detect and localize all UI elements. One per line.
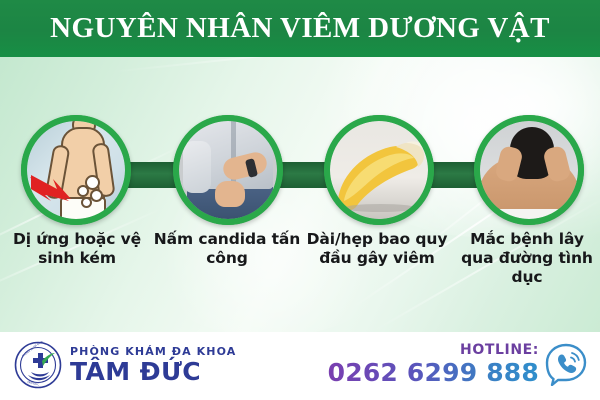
hotline-number[interactable]: 0262 6299 888 [328, 360, 539, 385]
phone-bubble-icon[interactable] [544, 342, 588, 386]
figure-hand [215, 181, 245, 207]
cause-image-4 [480, 121, 578, 219]
cause-image-3 [330, 121, 428, 219]
cause-circle-2 [173, 115, 283, 225]
figure-sleeve [183, 141, 211, 193]
brand-name: TÂM ĐỨC [70, 359, 236, 384]
cause-caption-2: Nấm candida tấn công [152, 230, 302, 268]
soap-bubble [90, 189, 103, 202]
soap-bubble [81, 197, 92, 208]
page-title: NGUYÊN NHÂN VIÊM DƯƠNG VẬT [50, 14, 550, 43]
banana-icon [330, 121, 428, 219]
soap-bubble [77, 185, 89, 197]
clinic-seal-icon: PHÒNG KHÁM ĐA KHOA TÂM ĐỨC [14, 341, 62, 389]
brand-subtitle: PHÒNG KHÁM ĐA KHOA [70, 346, 236, 357]
cause-circle-3 [324, 115, 434, 225]
banana-shape [334, 137, 428, 213]
hotline-label: HOTLINE: [460, 343, 539, 357]
infographic-poster: NGUYÊN NHÂN VIÊM DƯƠNG VẬT [0, 0, 600, 400]
hotline-text: HOTLINE: 0262 6299 888 [328, 343, 539, 385]
caption-row: Dị ứng hoặc vệ sinh kém Nấm candida tấn … [0, 230, 600, 330]
cause-circle-4 [474, 115, 584, 225]
hotline-block[interactable]: HOTLINE: 0262 6299 888 [328, 342, 588, 386]
cause-image-1 [27, 121, 125, 219]
footer-bar: PHÒNG KHÁM ĐA KHOA TÂM ĐỨC PHÒNG KHÁM ĐA… [0, 332, 600, 400]
cause-caption-4: Mắc bệnh lây qua đường tình dục [452, 230, 600, 287]
brand-text: PHÒNG KHÁM ĐA KHOA TÂM ĐỨC [70, 346, 236, 384]
red-arrow-icon [29, 171, 75, 205]
header-banner: NGUYÊN NHÂN VIÊM DƯƠNG VẬT [0, 0, 600, 57]
figure-towel [480, 209, 578, 219]
discomfort-icon [179, 121, 277, 219]
cause-caption-3: Dài/hẹp bao quy đầu gây viêm [302, 230, 452, 268]
clinic-brand: PHÒNG KHÁM ĐA KHOA TÂM ĐỨC PHÒNG KHÁM ĐA… [14, 341, 236, 389]
washing-icon [27, 121, 125, 219]
cause-circle-1 [21, 115, 131, 225]
cause-caption-1: Dị ứng hoặc vệ sinh kém [2, 230, 152, 268]
worry-icon [480, 121, 578, 219]
cause-image-2 [179, 121, 277, 219]
